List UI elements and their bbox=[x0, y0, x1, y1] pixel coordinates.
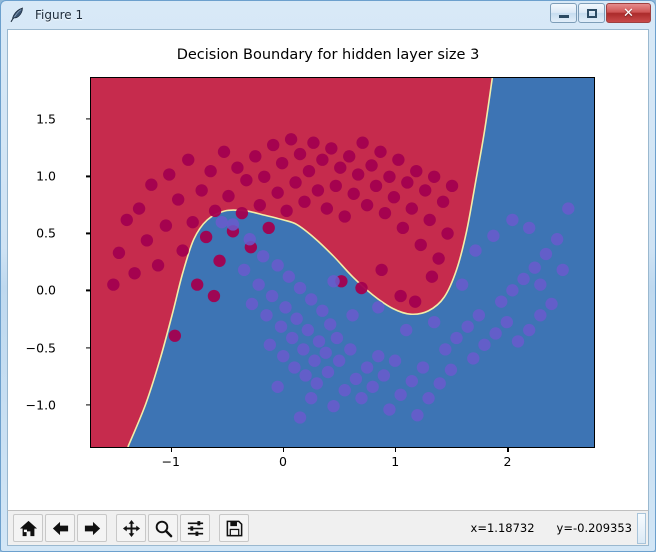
save-button[interactable] bbox=[219, 514, 249, 542]
scatter-point bbox=[441, 227, 453, 239]
scatter-point bbox=[294, 282, 306, 294]
scatter-point bbox=[487, 230, 499, 242]
scatter-point bbox=[356, 137, 368, 149]
scatter-point bbox=[238, 264, 250, 276]
scatter-point bbox=[299, 369, 311, 381]
scatter-point bbox=[428, 316, 440, 328]
matplotlib-feather-icon bbox=[9, 6, 27, 24]
scatter-point bbox=[434, 377, 446, 389]
scatter-point bbox=[160, 219, 172, 231]
scatter-point bbox=[339, 384, 351, 396]
scatter-point bbox=[277, 350, 289, 362]
magnifier-icon bbox=[154, 519, 173, 538]
scatter-point bbox=[200, 231, 212, 243]
scatter-point bbox=[231, 162, 243, 174]
scatter-point bbox=[128, 267, 140, 279]
scatter-point bbox=[523, 222, 535, 234]
scatter-point bbox=[107, 278, 119, 290]
scatter-point bbox=[372, 350, 384, 362]
scatter-point bbox=[348, 188, 360, 200]
scatter-point bbox=[372, 301, 384, 313]
scatter-point bbox=[321, 202, 333, 214]
scatter-point bbox=[311, 377, 323, 389]
minimize-button[interactable] bbox=[550, 3, 577, 23]
scatter-point bbox=[297, 343, 309, 355]
scatter-point bbox=[417, 361, 429, 373]
y-tick-label: 1.0 bbox=[7, 169, 56, 184]
scatter-point bbox=[169, 330, 181, 342]
resize-grip[interactable] bbox=[637, 513, 646, 544]
scatter-point bbox=[288, 361, 300, 373]
zoom-button[interactable] bbox=[148, 514, 178, 542]
scatter-point bbox=[294, 411, 306, 423]
scatter-point bbox=[422, 392, 434, 404]
scatter-point bbox=[410, 165, 422, 177]
scatter-point bbox=[424, 214, 436, 226]
scatter-point bbox=[276, 157, 288, 169]
maximize-icon bbox=[587, 9, 597, 18]
x-tick-mark bbox=[171, 448, 172, 452]
scatter-point bbox=[392, 154, 404, 166]
y-tick-label: 0.5 bbox=[7, 226, 56, 241]
scatter-point bbox=[551, 233, 563, 245]
x-tick-label: 1 bbox=[375, 454, 415, 469]
scatter-point bbox=[411, 409, 423, 421]
window-client-area: Decision Boundary for hidden layer size … bbox=[7, 29, 649, 551]
window-title: Figure 1 bbox=[35, 8, 83, 22]
scatter-point bbox=[374, 146, 386, 158]
scatter-point bbox=[279, 301, 291, 313]
scatter-point bbox=[334, 162, 346, 174]
scatter-point bbox=[562, 202, 574, 214]
scatter-point bbox=[285, 133, 297, 145]
scatter-point bbox=[227, 218, 239, 230]
plot-title: Decision Boundary for hidden layer size … bbox=[8, 47, 648, 63]
scatter-point bbox=[406, 202, 418, 214]
scatter-point bbox=[322, 366, 334, 378]
scatter-point bbox=[383, 403, 395, 415]
scatter-point bbox=[343, 150, 355, 162]
scatter-point bbox=[172, 193, 184, 205]
scatter-point bbox=[244, 233, 256, 245]
scatter-point bbox=[394, 389, 406, 401]
scatter-point bbox=[258, 171, 270, 183]
scatter-point bbox=[389, 355, 401, 367]
scatter-point bbox=[419, 184, 431, 196]
scatter-point bbox=[316, 305, 328, 317]
scatter-point bbox=[324, 318, 336, 330]
scatter-point bbox=[218, 146, 230, 158]
scatter-point bbox=[275, 320, 287, 332]
scatter-point bbox=[305, 392, 317, 404]
scatter-point bbox=[370, 180, 382, 192]
scatter-point bbox=[401, 176, 413, 188]
figure-canvas[interactable]: Decision Boundary for hidden layer size … bbox=[7, 29, 649, 510]
scatter-point bbox=[208, 290, 220, 302]
scatter-point bbox=[378, 369, 390, 381]
toolbar-separator-2 bbox=[211, 514, 218, 542]
scatter-point bbox=[361, 361, 373, 373]
window-titlebar: Figure 1 ✕ bbox=[1, 1, 655, 29]
scatter-point bbox=[316, 154, 328, 166]
back-button[interactable] bbox=[45, 514, 75, 542]
scatter-point bbox=[355, 392, 367, 404]
home-button[interactable] bbox=[13, 514, 43, 542]
window-controls: ✕ bbox=[549, 3, 651, 23]
left-arrow-icon bbox=[51, 519, 70, 538]
scatter-point bbox=[501, 316, 513, 328]
scatter-point bbox=[320, 347, 332, 359]
scatter-point bbox=[446, 180, 458, 192]
close-button[interactable]: ✕ bbox=[606, 3, 651, 23]
scatter-point bbox=[303, 165, 315, 177]
scatter-point bbox=[308, 355, 320, 367]
scatter-point bbox=[280, 205, 292, 217]
x-tick-mark bbox=[283, 448, 284, 452]
scatter-point bbox=[445, 364, 457, 376]
scatter-point bbox=[289, 176, 301, 188]
scatter-point bbox=[478, 339, 490, 351]
scatter-point bbox=[298, 196, 310, 208]
scatter-point bbox=[330, 180, 342, 192]
scatter-point bbox=[331, 332, 343, 344]
scatter-point bbox=[379, 207, 391, 219]
scatter-point bbox=[305, 293, 317, 305]
scatter-point bbox=[512, 335, 524, 347]
scatter-point bbox=[163, 168, 175, 180]
y-coordinate: y=-0.209353 bbox=[557, 521, 632, 535]
scatter-point bbox=[313, 335, 325, 347]
scatter-point bbox=[400, 324, 412, 336]
scatter-point bbox=[534, 309, 546, 321]
scatter-group-class1 bbox=[216, 202, 575, 423]
pan-button[interactable] bbox=[116, 514, 146, 542]
y-tick-label: −0.5 bbox=[7, 340, 56, 355]
scatter-point bbox=[557, 264, 569, 276]
navigation-toolbar: x=1.18732 y=-0.209353 bbox=[7, 510, 649, 546]
scatter-point bbox=[271, 187, 283, 199]
scatter-point bbox=[283, 271, 295, 283]
scatter-point bbox=[545, 298, 557, 310]
scatter-point bbox=[456, 278, 468, 290]
scatter-point bbox=[365, 159, 377, 171]
scatter-point bbox=[327, 275, 339, 287]
toolbar-separator bbox=[108, 514, 115, 542]
right-arrow-icon bbox=[83, 519, 102, 538]
scatter-point bbox=[495, 296, 507, 308]
scatter-point bbox=[383, 171, 395, 183]
scatter-point bbox=[152, 259, 164, 271]
scatter-point bbox=[290, 313, 302, 325]
scatter-point bbox=[327, 400, 339, 412]
scatter-point bbox=[312, 184, 324, 196]
scatter-point bbox=[450, 332, 462, 344]
scatter-point bbox=[216, 216, 228, 228]
scatter-point bbox=[397, 222, 409, 234]
scatter-point bbox=[534, 278, 546, 290]
scatter-point bbox=[113, 247, 125, 259]
minimize-icon bbox=[559, 15, 569, 18]
scatter-point bbox=[263, 222, 275, 234]
figure-window: Figure 1 ✕ Decision Boundary for hidden … bbox=[0, 0, 656, 552]
scatter-point bbox=[489, 327, 501, 339]
scatter-point bbox=[339, 210, 351, 222]
scatter-point bbox=[187, 216, 199, 228]
y-tick-label: 0.0 bbox=[7, 283, 56, 298]
scatter-point bbox=[346, 309, 358, 321]
maximize-button[interactable] bbox=[578, 3, 605, 23]
scatter-point bbox=[182, 154, 194, 166]
sliders-icon bbox=[186, 519, 205, 538]
scatter-point bbox=[426, 271, 438, 283]
x-tick-label: 2 bbox=[487, 454, 527, 469]
scatter-point bbox=[141, 234, 153, 246]
scatter-point bbox=[437, 196, 449, 208]
forward-button[interactable] bbox=[77, 514, 107, 542]
scatter-point bbox=[432, 252, 444, 264]
scatter-point bbox=[462, 320, 474, 332]
window-bottom-filler bbox=[7, 546, 649, 551]
scatter-point bbox=[540, 248, 552, 260]
x-tick-label: −1 bbox=[151, 454, 191, 469]
y-tick-label: −1.0 bbox=[7, 397, 56, 412]
scatter-point bbox=[249, 150, 261, 162]
scatter-point bbox=[307, 137, 319, 149]
scatter-point bbox=[260, 309, 272, 321]
scatter-point bbox=[506, 214, 518, 226]
scatter-point bbox=[375, 264, 387, 276]
scatter-point bbox=[350, 373, 362, 385]
scatter-point bbox=[246, 298, 258, 310]
scatter-point bbox=[406, 375, 418, 387]
home-icon bbox=[19, 519, 38, 538]
scatter-point bbox=[240, 174, 252, 186]
scatter-point bbox=[473, 309, 485, 321]
scatter-point bbox=[121, 214, 133, 226]
scatter-point bbox=[236, 207, 248, 219]
configure-subplots-button[interactable] bbox=[180, 514, 210, 542]
scatter-point bbox=[467, 352, 479, 364]
scatter-point bbox=[254, 199, 266, 211]
x-coordinate: x=1.18732 bbox=[471, 521, 535, 535]
scatter-point bbox=[257, 250, 269, 262]
scatter-point bbox=[204, 165, 216, 177]
scatter-point bbox=[176, 244, 188, 256]
scatter-point bbox=[325, 142, 337, 154]
scatter-point bbox=[428, 171, 440, 183]
scatter-point bbox=[361, 199, 373, 211]
scatter-point bbox=[209, 205, 221, 217]
floppy-disk-icon bbox=[225, 519, 244, 538]
scatter-point bbox=[469, 244, 481, 256]
scatter-point bbox=[415, 239, 427, 251]
scatter-point bbox=[271, 259, 283, 271]
scatter-point bbox=[264, 339, 276, 351]
scatter-point bbox=[523, 324, 535, 336]
scatter-point bbox=[145, 179, 157, 191]
move-cross-arrows-icon bbox=[122, 519, 141, 538]
scatter-point bbox=[213, 255, 225, 267]
scatter-point bbox=[352, 168, 364, 180]
close-icon: ✕ bbox=[623, 7, 634, 20]
coordinate-readout: x=1.18732 y=-0.209353 bbox=[471, 521, 632, 535]
scatter-point bbox=[302, 324, 314, 336]
x-tick-mark bbox=[507, 448, 508, 452]
x-tick-label: 0 bbox=[263, 454, 303, 469]
scatter-point bbox=[294, 148, 306, 160]
scatter-point bbox=[409, 296, 421, 308]
scatter-point bbox=[252, 278, 264, 290]
scatter-point bbox=[333, 355, 345, 367]
scatter-point bbox=[517, 273, 529, 285]
scatter-point bbox=[344, 343, 356, 355]
scatter-point bbox=[394, 290, 406, 302]
scatter-point bbox=[367, 381, 379, 393]
scatter-points bbox=[91, 78, 594, 447]
scatter-point bbox=[529, 261, 541, 273]
scatter-point bbox=[195, 184, 207, 196]
scatter-point bbox=[355, 282, 367, 294]
plot-axes[interactable] bbox=[90, 77, 595, 448]
scatter-point bbox=[133, 202, 145, 214]
scatter-point bbox=[266, 290, 278, 302]
scatter-point bbox=[388, 191, 400, 203]
scatter-point bbox=[286, 332, 298, 344]
x-tick-mark bbox=[395, 448, 396, 452]
scatter-point bbox=[439, 343, 451, 355]
scatter-point bbox=[267, 139, 279, 151]
scatter-point bbox=[191, 278, 203, 290]
y-tick-label: 1.5 bbox=[7, 112, 56, 127]
scatter-point bbox=[271, 381, 283, 393]
scatter-point bbox=[222, 190, 234, 202]
scatter-point bbox=[506, 284, 518, 296]
